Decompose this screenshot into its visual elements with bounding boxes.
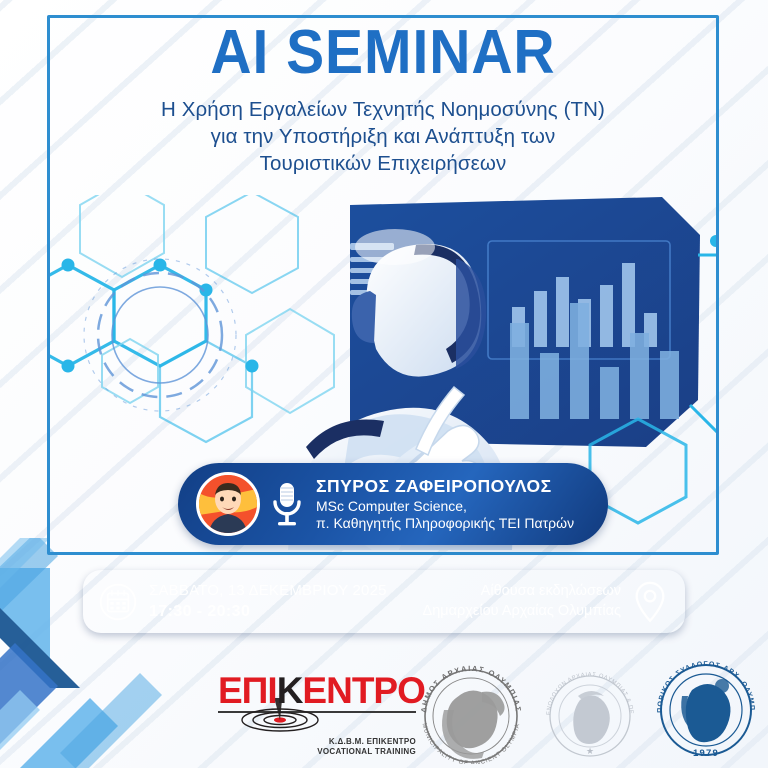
seal-3-year: 1979 (693, 748, 719, 759)
network-nodes (62, 259, 259, 373)
municipality-of-ancient-olympia-seal: ΔΗΜΟΣ ΑΡΧΑΙΑΣ ΟΛΥΜΠΙΑΣ MUNICIPALITY OF A… (408, 656, 534, 764)
event-date: ΣΑΒΒΑΤΟ, 13 ΔΕΚΕΜΒΡΙΟΥ 2025 (149, 581, 387, 601)
map-pin-icon (631, 580, 669, 624)
speaker-role-line-2: π. Καθηγητής Πληροφορικής ΤΕΙ Πατρών (316, 515, 574, 532)
speaker-portrait-icon (199, 475, 257, 533)
microphone-icon (270, 481, 304, 527)
avatar (196, 472, 260, 536)
page-subtitle: Η Χρήση Εργαλείων Τεχνητής Νοημοσύνης (Τ… (47, 96, 719, 177)
speaker-role-line-1: MSc Computer Science, (316, 498, 574, 515)
event-time: 17:30 - 20:30 (149, 601, 387, 623)
speaker-bar: ΣΠΥΡΟΣ ΖΑΦΕΙΡΟΠΟΥΛΟΣ MSc Computer Scienc… (178, 463, 608, 545)
subtitle-line-1: Η Χρήση Εργαλείων Τεχνητής Νοημοσύνης (Τ… (47, 96, 719, 123)
commercial-association-seal: ΕΜΠΟΡΙΚΟΣ ΣΥΛΛΟΓΟΣ ΑΡΧ. ΟΛΥΜΠΙΑΣ 1979 (648, 652, 764, 764)
speaker-details: ΣΠΥΡΟΣ ΖΑΦΕΙΡΟΠΟΥΛΟΣ MSc Computer Scienc… (316, 476, 574, 532)
epikentro-sub-line-1: Κ.Δ.Β.Μ. ΕΠΙΚΕΝΤΡΟ (218, 737, 416, 747)
date-time-block: ΣΑΒΒΑΤΟ, 13 ΔΕΚΕΜΒΡΙΟΥ 2025 17:30 - 20:3… (149, 581, 387, 623)
venue-line-1: Αίθουσα εκδηλώσεων (423, 582, 621, 602)
poster-root: AI SEMINAR Η Χρήση Εργαλείων Τεχνητής Νο… (0, 0, 768, 768)
hexagon-network-icon (50, 195, 298, 442)
speaker-name: ΣΠΥΡΟΣ ΖΑΦΕΙΡΟΠΟΥΛΟΣ (316, 476, 574, 497)
epikentro-word-part-1: ΕΠΙ (218, 670, 277, 711)
title-block: AI SEMINAR Η Χρήση Εργαλείων Τεχνητής Νο… (47, 22, 719, 177)
epikentro-subtitle: Κ.Δ.Β.Μ. ΕΠΙΚΕΝΤΡΟ VOCATIONAL TRAINING (218, 737, 416, 758)
epikentro-word-part-3: ΕΝΤΡΟ (302, 670, 424, 711)
subtitle-line-3: Τουριστικών Επιχειρήσεων (47, 150, 719, 177)
epikentro-word-part-2: Κ (277, 670, 303, 711)
venue-line-2: Δημαρχείου Αρχαίας Ολυμπίας (423, 602, 621, 622)
hoteliers-union-seal: ΕΝΩΣΗ ΞΕΝΟΔΟΧΩΝ ΑΡΧΑΙΑΣ ΟΛΥΜΠΙΑΣ & ΠΕΡΙΧ… (538, 668, 642, 760)
svg-text:★: ★ (586, 746, 594, 756)
logos-row: ΕΠΙΚΕΝΤΡΟ Κ.Δ.Β.Μ. ΕΠΙΚΕΝΤΡΟ VOCATIONAL … (0, 650, 768, 768)
event-info-bar: ΣΑΒΒΑΤΟ, 13 ΔΕΚΕΜΒΡΙΟΥ 2025 17:30 - 20:3… (83, 570, 685, 633)
epikentro-logo: ΕΠΙΚΕΝΤΡΟ Κ.Δ.Β.Μ. ΕΠΙΚΕΝΤΡΟ VOCATIONAL … (218, 672, 416, 758)
calendar-icon (99, 583, 137, 621)
page-title: AI SEMINAR (74, 22, 692, 84)
epikentro-wordmark: ΕΠΙΚΕΝΤΡΟ (218, 672, 416, 709)
subtitle-line-2: για την Υποστήριξη και Ανάπτυξη των (47, 123, 719, 150)
venue-block: Αίθουσα εκδηλώσεων Δημαρχείου Αρχαίας Ολ… (423, 582, 631, 621)
epikentro-sub-line-2: VOCATIONAL TRAINING (218, 747, 416, 757)
